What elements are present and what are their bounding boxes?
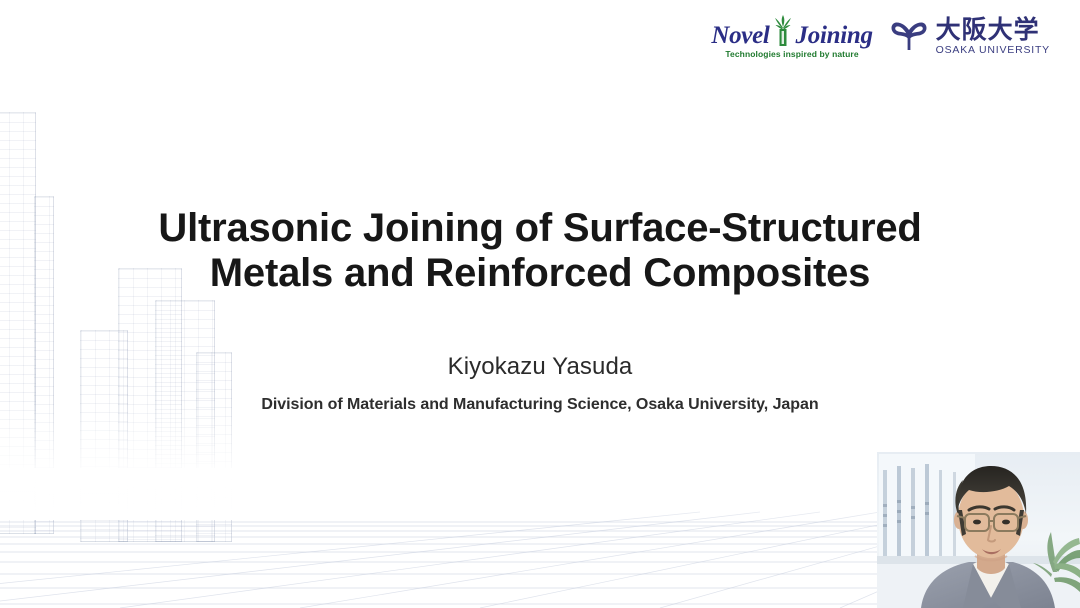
speaker-video-thumbnail[interactable] [877,452,1080,608]
slide-title-line-2: Metals and Reinforced Composites [90,251,990,296]
background-building-shape [155,300,215,542]
slide-title: Ultrasonic Joining of Surface-Structured… [0,206,1080,296]
logo-bar: Novel Joining [711,14,1050,59]
osaka-university-logo: 大阪大学 OSAKA UNIVERSITY [891,17,1050,56]
novel-joining-wordmark: Novel Joining [711,14,872,48]
background-building-shape [0,112,36,534]
slide-author-block: Kiyokazu Yasuda Division of Materials an… [0,352,1080,415]
author-name: Kiyokazu Yasuda [0,352,1080,382]
osaka-university-name-en: OSAKA UNIVERSITY [936,45,1050,56]
novel-joining-word-right: Joining [796,23,873,48]
presentation-slide: Novel Joining [0,0,1080,608]
osaka-university-name-jp: 大阪大学 [936,17,1050,43]
author-affiliation: Division of Materials and Manufacturing … [0,395,1080,415]
speaker-video-frame [877,452,1080,608]
novel-joining-tagline: Technologies inspired by nature [725,50,858,59]
slide-title-line-1: Ultrasonic Joining of Surface-Structured [90,206,990,251]
novel-joining-word-left: Novel [711,23,769,48]
osaka-university-wordmark: 大阪大学 OSAKA UNIVERSITY [936,17,1050,56]
osaka-university-mark-icon [891,19,927,53]
novel-joining-logo: Novel Joining [711,14,872,59]
sprout-icon [773,14,793,48]
